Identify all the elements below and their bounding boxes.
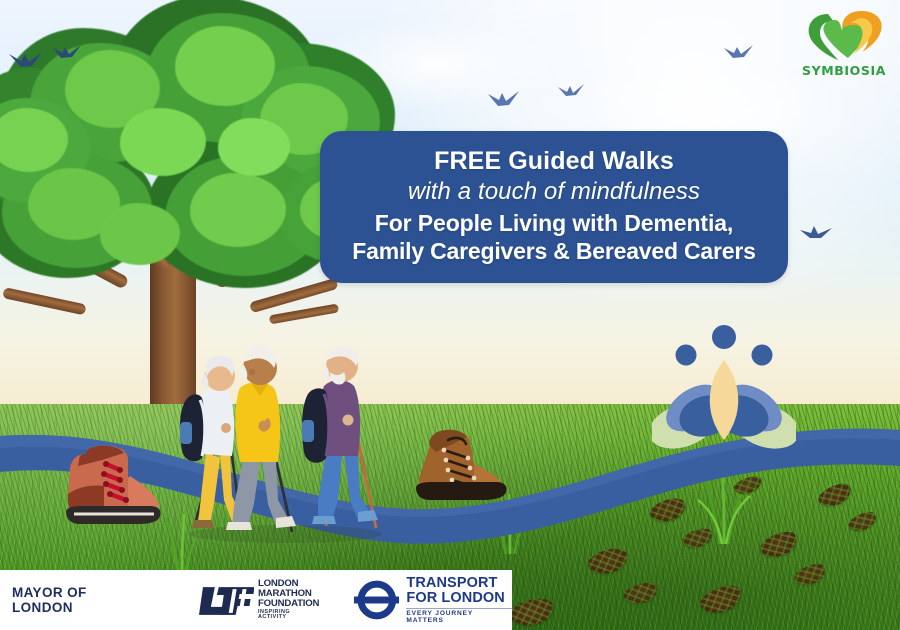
bird-icon [722, 42, 762, 64]
tfl-roundel-icon [354, 580, 400, 620]
poster-canvas: FREE Guided Walks with a touch of mindfu… [0, 0, 900, 630]
hiking-boot-left [56, 438, 168, 526]
hiking-boot-right [406, 416, 516, 504]
walker-figure-3 [302, 347, 378, 528]
headline-line-3: For People Living with Dementia, [375, 210, 733, 237]
tfl-line-1: TRANSPORT [406, 576, 512, 591]
symbiosia-heart-icon [798, 8, 890, 62]
tree-foliage [190, 173, 286, 247]
tree-branch [2, 287, 86, 315]
bird-icon [486, 88, 528, 112]
tfl-tagline: EVERY JOURNEY MATTERS [406, 610, 512, 624]
tfl-divider [406, 608, 512, 609]
sponsor-london-marathon-foundation: LONDON MARATHON FOUNDATION INSPIRING ACT… [199, 579, 320, 620]
sponsor-transport-for-london: TRANSPORT FOR LONDON EVERY JOURNEY MATTE… [354, 576, 512, 624]
headline-line-1: FREE Guided Walks [434, 147, 674, 176]
bird-icon [50, 42, 90, 64]
symbiosia-logo: SYMBIOSIA [798, 8, 890, 80]
tfl-line-2: FOR LONDON [406, 591, 512, 606]
bird-icon [556, 82, 592, 102]
lmf-monogram-icon [199, 583, 254, 617]
sponsor-mayor-of-london: MAYOR OF LONDON [12, 585, 151, 615]
sponsor-bar: MAYOR OF LONDON LONDON MARATHON FOUNDATI… [0, 570, 512, 630]
lmf-wordmark: LONDON MARATHON FOUNDATION INSPIRING ACT… [258, 579, 320, 620]
tree-foliage [100, 203, 180, 265]
bird-icon [8, 48, 54, 74]
lmf-line-3: FOUNDATION [258, 599, 320, 609]
lotus-mindfulness-icon [652, 322, 796, 454]
tfl-wordmark: TRANSPORT FOR LONDON EVERY JOURNEY MATTE… [406, 576, 512, 624]
tree-foliage [218, 118, 290, 176]
tree-foliage [120, 108, 206, 176]
bird-icon [798, 222, 840, 244]
lmf-tagline: INSPIRING ACTIVITY [258, 610, 320, 621]
headline-line-4: Family Caregivers & Bereaved Carers [352, 238, 755, 265]
headline-line-2: with a touch of mindfulness [408, 178, 700, 206]
walker-figure-2 [226, 345, 296, 532]
walkers-group [176, 316, 396, 544]
tree-foliage [175, 26, 275, 106]
symbiosia-wordmark: SYMBIOSIA [798, 63, 890, 78]
headline-banner: FREE Guided Walks with a touch of mindfu… [320, 131, 788, 283]
